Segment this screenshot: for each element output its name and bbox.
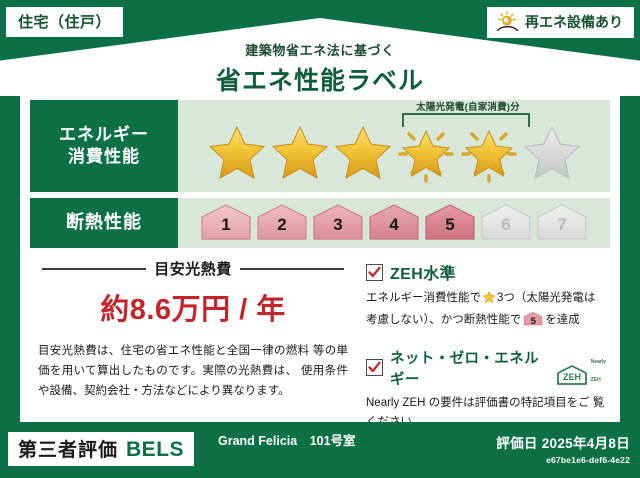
insulation-level-5-number: 5 — [423, 215, 477, 235]
net-zero-heading: ネット・ゼロ・エネルギー ZEH Nearly ZEH — [366, 347, 606, 389]
insulation-performance-label: 断熱性能 — [30, 198, 178, 248]
solar-bracket-caption: 太陽光発電(自家消費)分 — [388, 99, 548, 113]
header-band: 住宅（住戸） 再エネ設備あり — [0, 0, 640, 96]
insulation-level-3: 3 — [311, 202, 365, 244]
cost-note-line1: 目安光熱費は、住宅の省エネ性能と全国一律の燃料 — [38, 345, 309, 357]
star-6-empty — [521, 121, 583, 183]
zeh-column: ZEH水準 エネルギー消費性能で3つ（太陽光発電は考慮しない）、かつ断熱性能で5… — [352, 258, 606, 432]
insulation-level-7: 7 — [535, 202, 589, 244]
zeh-desc-d: を達成 — [545, 314, 580, 326]
insulation-level-2: 2 — [255, 202, 309, 244]
star-rating — [178, 100, 610, 192]
energy-label-line1: エネルギー — [59, 124, 149, 146]
label-title: 建築物省エネ法に基づく 省エネ性能ラベル — [0, 40, 640, 96]
housing-type-label: 住宅（住戸） — [18, 14, 111, 31]
heading-rule-left — [42, 268, 146, 270]
insulation-performance-row: 断熱性能 1 — [30, 198, 610, 248]
star-icon — [482, 295, 496, 307]
utility-cost-note: 目安光熱費は、住宅の省エネ性能と全国一律の燃料 等の単価を用いて算出したものです… — [34, 342, 352, 401]
zeh-logo-sub1: Nearly — [591, 359, 606, 365]
building-name: Grand Felicia 101号室 — [218, 434, 468, 450]
zeh-logo: ZEH Nearly ZEH — [555, 350, 606, 386]
insulation-level-3-number: 3 — [311, 215, 365, 235]
energy-stars-panel: 太陽光発電(自家消費)分 — [178, 100, 610, 192]
bels-en-label: BELS — [126, 438, 184, 462]
renewable-energy-badge: 再エネ設備あり — [487, 7, 634, 38]
insulation-level-1-number: 1 — [199, 215, 253, 235]
utility-cost-heading: 目安光熱費 — [34, 258, 352, 279]
net-zero-title: ネット・ゼロ・エネルギー — [390, 347, 544, 389]
insulation-levels-panel: 1 2 — [178, 198, 610, 248]
star-5-solar — [458, 121, 520, 183]
insulation-level-6: 6 — [479, 202, 533, 244]
zeh-standard-description: エネルギー消費性能で3つ（太陽光発電は考慮しない）、かつ断熱性能で5を達成 — [366, 289, 606, 331]
star-1 — [206, 121, 268, 183]
footer-bar: 第三者評価 BELS Grand Felicia 101号室 評価日 2025年… — [0, 422, 640, 478]
title-main: 省エネ性能ラベル — [0, 61, 640, 96]
zeh-standard-block: ZEH水準 エネルギー消費性能で3つ（太陽光発電は考慮しない）、かつ断熱性能で5… — [366, 260, 606, 331]
net-zero-desc-line1: Nearly ZEH の要件は評価書の特記項目をご — [366, 397, 590, 409]
energy-performance-label: 住宅（住戸） 再エネ設備あり — [0, 0, 640, 478]
energy-performance-row: エネルギー 消費性能 太陽光発電(自家消費)分 — [30, 100, 610, 192]
renewable-energy-label: 再エネ設備あり — [525, 12, 623, 32]
zeh-logo-sub2: ZEH — [591, 377, 601, 383]
insulation-rating: 1 2 — [178, 198, 610, 248]
sun-icon — [496, 11, 520, 33]
insulation-level-2-number: 2 — [255, 215, 309, 235]
housing-type-badge: 住宅（住戸） — [6, 7, 123, 37]
evaluation-date: 評価日 2025年4月8日 — [496, 432, 630, 452]
title-subtitle: 建築物省エネ法に基づく — [0, 40, 640, 59]
svg-text:ZEH: ZEH — [563, 372, 581, 382]
net-zero-energy-block: ネット・ゼロ・エネルギー ZEH Nearly ZEH — [366, 347, 606, 433]
details-columns: 目安光熱費 約8.6万円 / 年 目安光熱費は、住宅の省エネ性能と全国一律の燃料… — [20, 258, 620, 432]
insulation-level-4-number: 4 — [367, 215, 421, 235]
energy-label-line2: 消費性能 — [68, 146, 140, 168]
zeh-logo-subtext: Nearly ZEH — [591, 350, 606, 386]
star-3 — [332, 121, 394, 183]
insulation-level-4: 4 — [367, 202, 421, 244]
zeh-desc-a: エネルギー消費性能で — [366, 292, 481, 304]
heading-rule-right — [240, 268, 344, 270]
bels-jp-label: 第三者評価 — [18, 435, 118, 462]
utility-cost-column: 目安光熱費 約8.6万円 / 年 目安光熱費は、住宅の省エネ性能と全国一律の燃料… — [34, 258, 352, 432]
zeh-desc-b: 3つ（太陽光発電 — [497, 292, 584, 304]
star-2 — [269, 121, 331, 183]
energy-performance-label: エネルギー 消費性能 — [30, 100, 178, 192]
star-4-solar — [395, 121, 457, 183]
zeh-standard-title: ZEH水準 — [390, 260, 456, 284]
insulation-level-5-icon-number: 5 — [523, 314, 543, 330]
insulation-level-5-icon: 5 — [523, 311, 543, 327]
insulation-level-6-number: 6 — [479, 215, 533, 235]
zeh-standard-heading: ZEH水準 — [366, 260, 606, 284]
check-icon — [366, 359, 383, 376]
evaluation-info: 評価日 2025年4月8日 e67be1e6-def6-4e22 — [496, 432, 630, 465]
evaluation-id: e67be1e6-def6-4e22 — [496, 455, 630, 465]
bels-badge: 第三者評価 BELS — [8, 432, 194, 466]
utility-cost-heading-text: 目安光熱費 — [154, 258, 232, 279]
check-icon — [366, 264, 383, 281]
utility-cost-value: 約8.6万円 / 年 — [34, 286, 352, 328]
insulation-level-7-number: 7 — [535, 215, 589, 235]
insulation-level-1: 1 — [199, 202, 253, 244]
insulation-label-text: 断熱性能 — [66, 211, 142, 235]
label-body-card: エネルギー 消費性能 太陽光発電(自家消費)分 — [20, 88, 620, 422]
insulation-level-5: 5 — [423, 202, 477, 244]
